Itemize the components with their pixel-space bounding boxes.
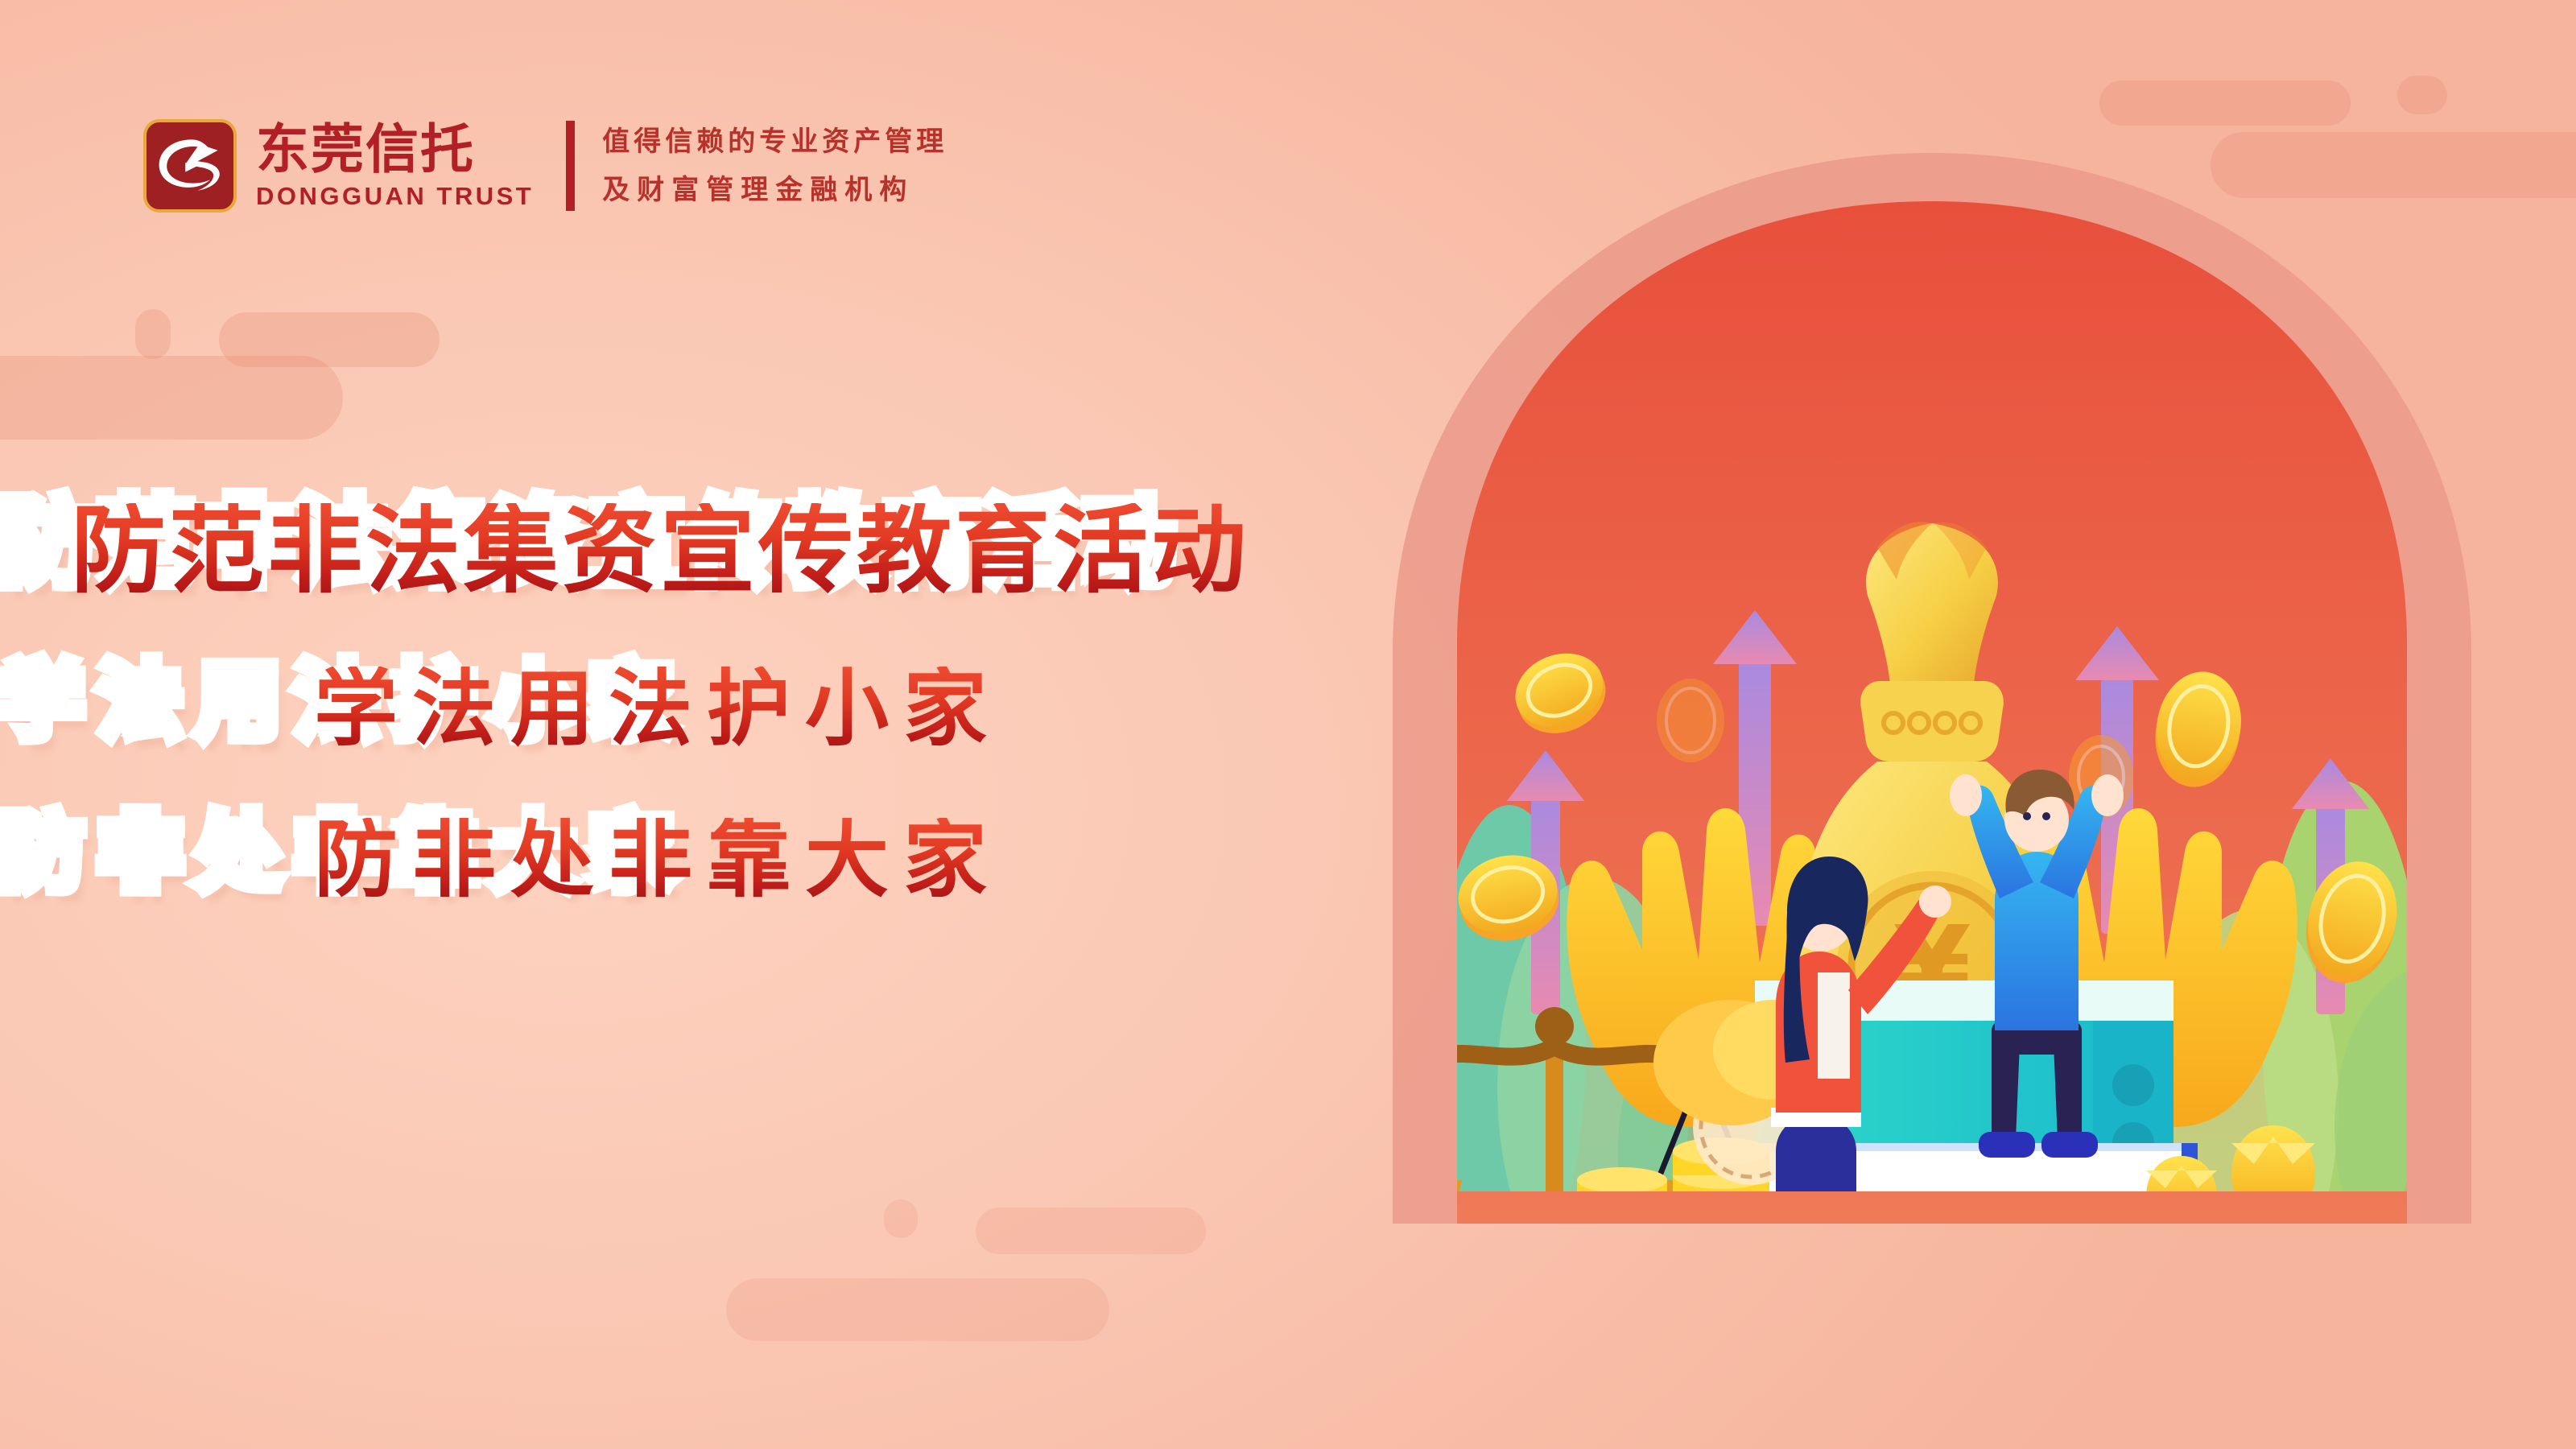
decor-pill [884,1199,918,1238]
brand-name-en: DONGGUAN TRUST [256,184,534,208]
headline-line-1: 防范非法集资宣传教育活动 防范非法集资宣传教育活动 防范非法集资宣传教育活动 [0,495,1352,606]
tagline-line-1: 值得信赖的专业资产管理 [602,128,947,155]
brand-logo-icon [143,119,237,213]
headline-line-2: 学法用法护小家 学法用法护小家 学法用法护小家 [0,659,1352,758]
decor-pill [135,309,171,359]
decor-pill [726,1278,1109,1341]
headline-line-3: 防非处非靠大家 防非处非靠大家 防非处非靠大家 [0,811,1352,909]
headline-line-3-text: 防非处非靠大家 [314,818,1001,902]
illustration: ¥ [1304,97,2560,1320]
headline-block: 防范非法集资宣传教育活动 防范非法集资宣传教育活动 防范非法集资宣传教育活动 学… [0,495,1352,909]
brand-name-cn: 东莞信托 [256,123,534,176]
brand-header: 东莞信托 DONGGUAN TRUST 值得信赖的专业资产管理 及财富管理金融机… [143,119,947,213]
poster-canvas: 东莞信托 DONGGUAN TRUST 值得信赖的专业资产管理 及财富管理金融机… [0,0,2576,1449]
tagline-line-2: 及财富管理金融机构 [602,176,947,204]
header-divider [566,121,575,211]
brand-tagline: 值得信赖的专业资产管理 及财富管理金融机构 [602,128,947,204]
decor-pill [0,356,343,440]
brand-wordmark: 东莞信托 DONGGUAN TRUST [256,123,534,208]
headline-line-2-text: 学法用法护小家 [314,667,1001,750]
decor-pill [976,1207,1206,1254]
headline-line-1-text: 防范非法集资宣传教育活动 [71,503,1249,598]
